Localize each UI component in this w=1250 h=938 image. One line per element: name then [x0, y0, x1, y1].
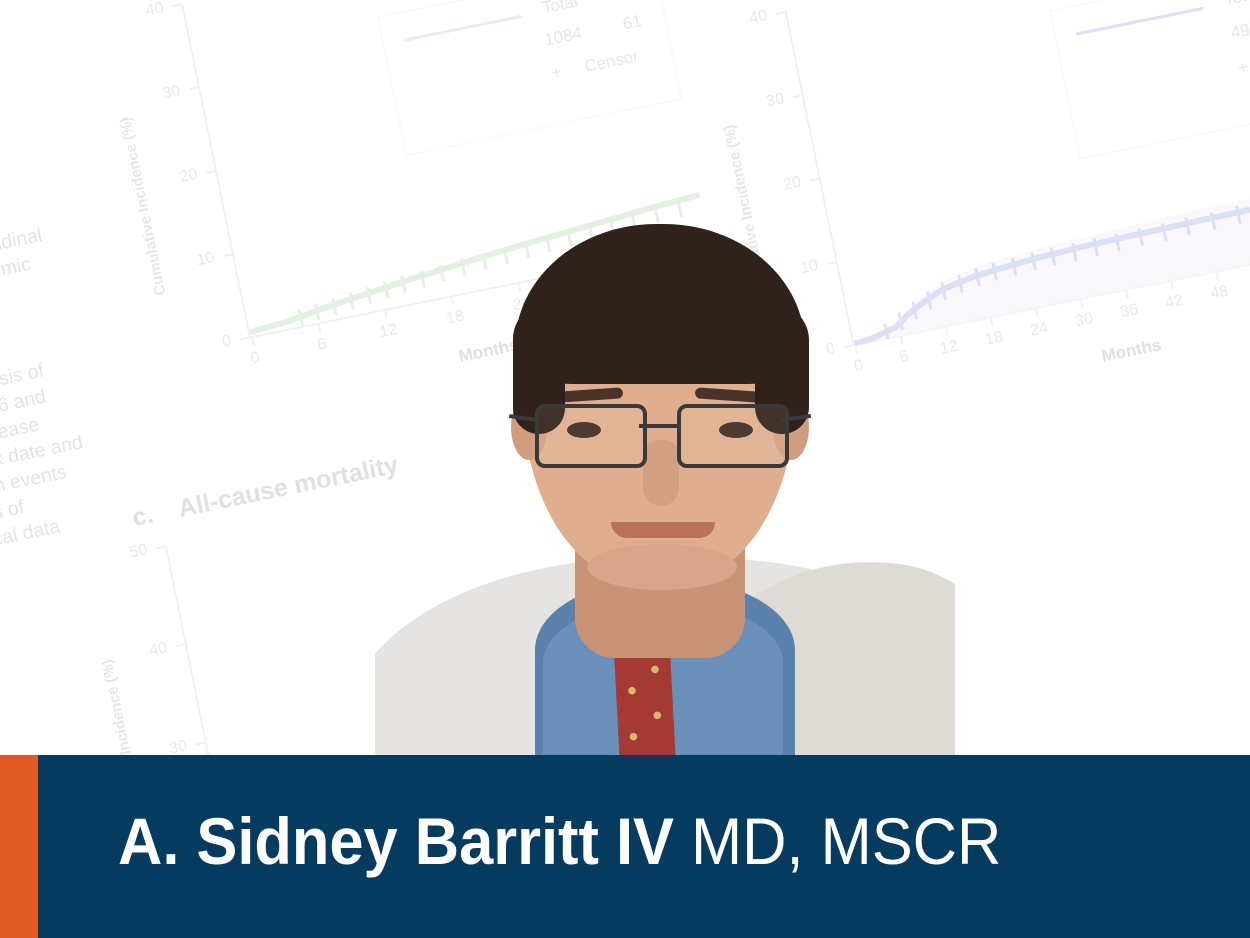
chart-panel-c-ytick: 50 [106, 541, 149, 567]
chart-panel-a-ylabel: Cumulative Incidence (%) [117, 116, 170, 297]
chart-panel-a-ytick: 0 [190, 332, 233, 358]
chin [587, 544, 737, 590]
chart-panel-b-xtickmark [990, 317, 994, 326]
chart-panel-a-ytick: 10 [173, 249, 216, 275]
chart-panel-a-ytickmark [189, 87, 198, 91]
chart-panel-c-ytickmark [176, 644, 185, 648]
chart-panel-b-legend-total-header: Total [1222, 0, 1250, 10]
chart-panel-b-xtick: 18 [978, 327, 1011, 351]
chart-panel-a-ytick: 20 [156, 166, 199, 192]
chart-panel-c-ytick: 40 [126, 639, 169, 665]
chart-panel-a-legend-total-header: Total [540, 0, 579, 18]
accent-bar [0, 755, 38, 938]
speaker-name: A. Sidney Barritt IV MD, MSCR [118, 805, 1001, 877]
chart-panel-b-xtickmark [1170, 280, 1174, 289]
chart-panel-c-letter: c. [130, 501, 156, 533]
chart-panel-b-ytick: 40 [726, 7, 769, 33]
speaker-photo [375, 208, 955, 768]
speaker-credentials: MD, MSCR [674, 804, 1001, 878]
screenshot-root: Real-World Incidence of Disease Progress… [0, 0, 1250, 938]
eyeglass-lens-left [535, 404, 647, 468]
chart-panel-a-xtick: 6 [305, 333, 338, 357]
chart-panel-a-legend-censor-label: Censor [583, 47, 641, 78]
chart-panel-b-ytickmark [793, 95, 802, 99]
speaker-name-bold: A. Sidney Barritt IV [118, 804, 674, 878]
chart-panel-c-ytickmark [156, 546, 165, 550]
chart-panel-c-ytickmark [196, 742, 205, 746]
chart-panel-b-legend-censor-symbol: + [1236, 57, 1250, 79]
chart-panel-a-xtickmark [251, 337, 255, 346]
chart-panel-b-legend-total-value: 495 [1229, 18, 1250, 43]
chart-panel-a-ytickmark [206, 170, 215, 174]
chart-panel-a-legend-swatch [403, 15, 521, 42]
chart-panel-b-xtick: 48 [1203, 281, 1236, 305]
chart-panel-b-legend-swatch [1076, 7, 1204, 36]
eyeglass-lens-right [677, 404, 789, 468]
eyeglasses [527, 404, 797, 464]
chart-panel-b-ytickmark [776, 11, 785, 15]
chart-panel-b-xtickmark [1035, 308, 1039, 317]
chart-panel-b-xlabel: Months [1100, 335, 1163, 367]
eyeglass-bridge [639, 424, 677, 428]
chart-panel-a-legend-event-value: 61 [621, 11, 644, 34]
chart-panel-a-legend-censor-symbol: + [549, 62, 563, 84]
chart-panel-b-xtick: 24 [1023, 318, 1056, 342]
chart-panel-a-ytickmark [172, 3, 181, 7]
chart-panel-b-xtickmark [1215, 271, 1219, 280]
chart-panel-a-ytick: 30 [139, 83, 182, 109]
chart-panel-a-ytickmark [223, 253, 232, 257]
chart-panel-b-ytick: 30 [743, 90, 786, 116]
chart-panel-a-ytick: 40 [123, 0, 166, 25]
mouth [611, 522, 715, 538]
chart-panel-a-ytickmark [240, 337, 249, 341]
chart-panel-b-xtick: 36 [1113, 300, 1146, 324]
chart-panel-a-xtick: 0 [239, 347, 272, 371]
chart-panel-b-xtickmark [1125, 290, 1129, 299]
chart-panel-a-legend-event-header: Event [605, 0, 652, 5]
chart-panel-a-xtickmark [318, 323, 322, 332]
chart-panel-a-legend-total-value: 1084 [543, 23, 584, 50]
chart-panel-b-ytickmark [810, 178, 819, 182]
chart-panel-b-xtickmark [1080, 299, 1084, 308]
speaker-name-bar: A. Sidney Barritt IV MD, MSCR [0, 755, 1250, 938]
chart-panel-b-xtick: 30 [1068, 309, 1101, 333]
chart-panel-b-xtick: 42 [1158, 291, 1191, 315]
chart-panel-b-ytick: 20 [760, 174, 803, 200]
